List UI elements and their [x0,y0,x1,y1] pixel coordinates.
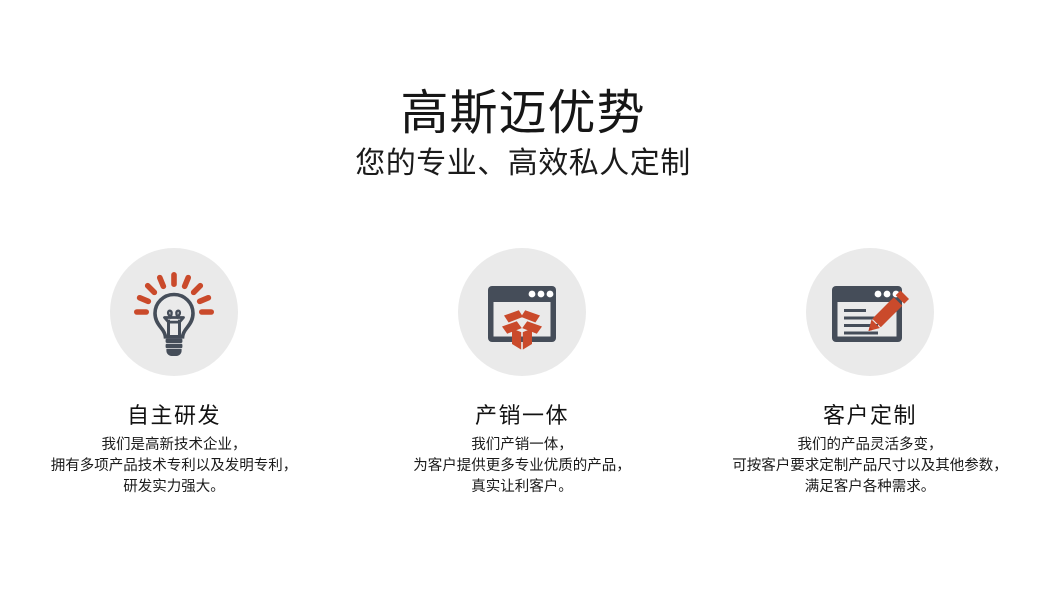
slide-root: 高斯迈优势 您的专业、高效私人定制 [0,0,1046,589]
feature-columns: 自主研发 我们是高新技术企业， 拥有多项产品技术专利以及发明专利， 研发实力强大… [0,248,1046,498]
feature-title-1: 自主研发 [127,376,221,430]
browser-pencil-edit-icon [822,264,918,360]
feature-column-3[interactable]: 客户定制 我们的产品灵活多变， 可按客户要求定制产品尺寸以及其他参数， 满足客户… [696,248,1044,498]
feature-desc-line: 为客户提供更多专业优质的产品， [413,456,631,477]
feature-title-3: 客户定制 [823,376,917,430]
feature-icon-badge-3 [806,248,934,376]
header-block: 高斯迈优势 您的专业、高效私人定制 [0,86,1046,184]
page-subtitle: 您的专业、高效私人定制 [0,142,1046,184]
feature-description-2: 我们产销一体， 为客户提供更多专业优质的产品， 真实让利客户。 [413,430,631,498]
feature-column-2[interactable]: 产销一体 我们产销一体， 为客户提供更多专业优质的产品， 真实让利客户。 [348,248,696,498]
feature-desc-line: 真实让利客户。 [413,477,631,498]
feature-desc-line: 我们的产品灵活多变， [732,435,1008,456]
feature-desc-line: 拥有多项产品技术专利以及发明专利， [51,456,298,477]
lightbulb-icon [126,264,222,360]
feature-desc-line: 研发实力强大。 [51,477,298,498]
feature-description-1: 我们是高新技术企业， 拥有多项产品技术专利以及发明专利， 研发实力强大。 [51,430,298,498]
browser-open-box-icon [474,264,570,360]
feature-icon-badge-1 [110,248,238,376]
feature-column-1[interactable]: 自主研发 我们是高新技术企业， 拥有多项产品技术专利以及发明专利， 研发实力强大… [0,248,348,498]
feature-desc-line: 我们是高新技术企业， [51,435,298,456]
feature-icon-badge-2 [458,248,586,376]
feature-desc-line: 满足客户各种需求。 [732,477,1008,498]
feature-description-3: 我们的产品灵活多变， 可按客户要求定制产品尺寸以及其他参数， 满足客户各种需求。 [732,430,1008,498]
feature-title-2: 产销一体 [475,376,569,430]
page-title: 高斯迈优势 [0,86,1046,142]
feature-desc-line: 我们产销一体， [413,435,631,456]
feature-desc-line: 可按客户要求定制产品尺寸以及其他参数， [732,456,1008,477]
